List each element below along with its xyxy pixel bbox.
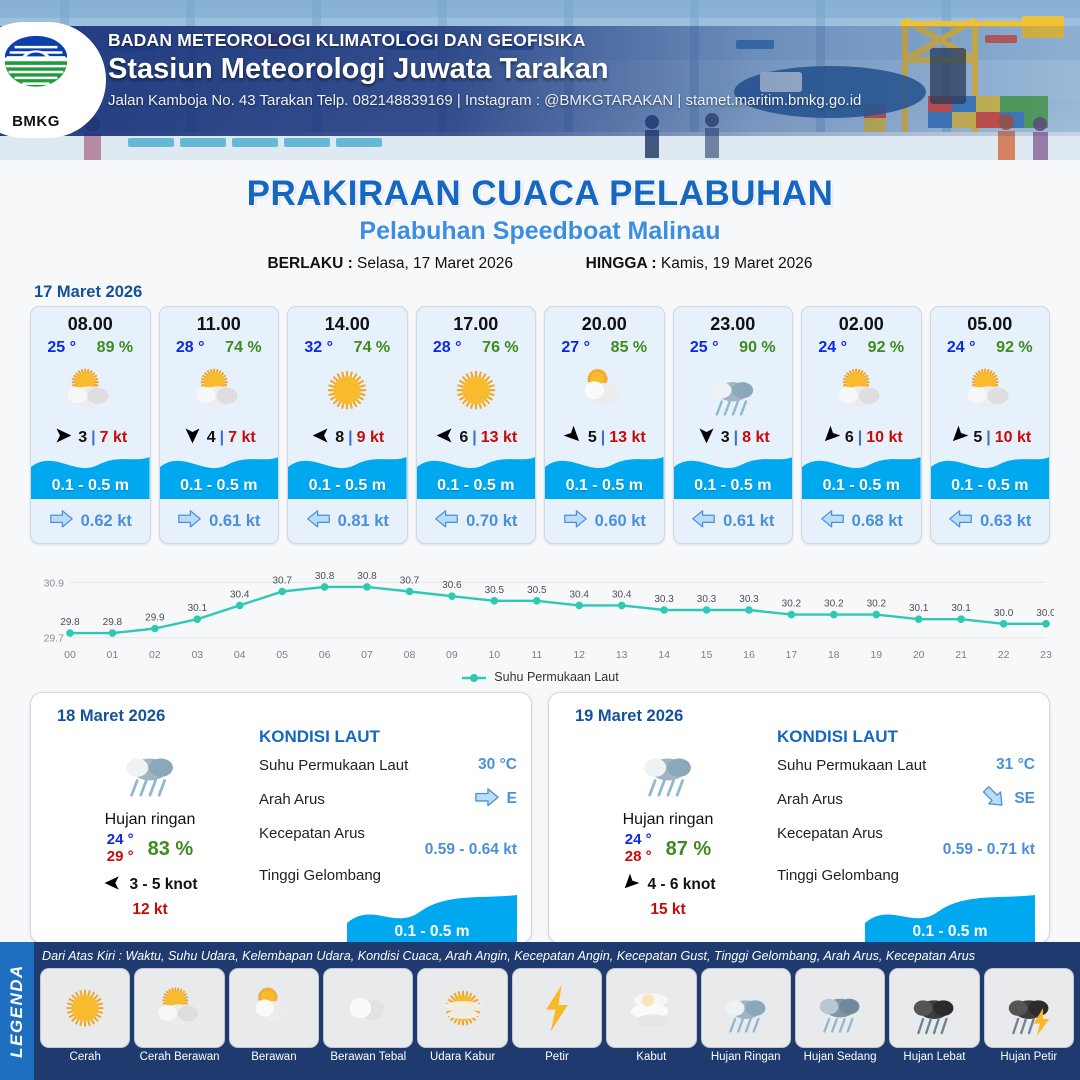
svg-text:15: 15 (701, 649, 713, 661)
card-wave-height: 0.1 - 0.5 m (160, 477, 279, 495)
forecast-card: 08.0025 °89 %3|7 kt0.1 - 0.5 m0.62 kt (30, 306, 151, 544)
card-wind-speed: 6 (459, 429, 468, 447)
legend-icon-hujan-ringan (701, 968, 791, 1048)
svg-text:01: 01 (107, 649, 119, 661)
wind-direction-arrow-icon (620, 873, 640, 898)
svg-text:30.5: 30.5 (527, 585, 547, 596)
daily-temp-max: 29 ° (107, 849, 134, 866)
card-time: 14.00 (288, 314, 407, 335)
weather-cerah-berawan-icon (160, 359, 279, 421)
card-time: 05.00 (931, 314, 1050, 335)
legend-item-label: Hujan Sedang (795, 1051, 885, 1063)
current-speed-label: Kecepatan Arus (777, 825, 883, 842)
svg-text:30.7: 30.7 (272, 576, 292, 587)
card-wind-speed: 4 (207, 429, 216, 447)
svg-text:09: 09 (446, 649, 458, 661)
legend-item-label: Udara Kabur (417, 1051, 507, 1063)
forecast-card: 11.0028 °74 %4|7 kt0.1 - 0.5 m0.61 kt (159, 306, 280, 544)
legend-item: Hujan Lebat (889, 968, 979, 1063)
sst-chart-svg: 29.730.929.80029.80129.90230.10330.40430… (26, 554, 1054, 666)
weather-hujan-ringan-icon (45, 731, 255, 809)
svg-text:30.2: 30.2 (782, 599, 802, 610)
weather-cerah-icon (417, 359, 536, 421)
card-wind-speed: 5 (588, 429, 597, 447)
svg-text:30.8: 30.8 (315, 571, 335, 582)
chart-legend-marker (461, 672, 487, 682)
forecast-card: 14.0032 °74 %8|9 kt0.1 - 0.5 m0.81 kt (287, 306, 408, 544)
svg-text:30.0: 30.0 (994, 608, 1014, 619)
svg-text:30.8: 30.8 (357, 571, 377, 582)
daily-date: 18 Maret 2026 (57, 707, 165, 726)
card-time: 02.00 (802, 314, 921, 335)
svg-text:30.2: 30.2 (824, 599, 844, 610)
svg-text:11: 11 (531, 649, 542, 661)
bmkg-logo-mark (0, 32, 75, 112)
legend-icon-berawan (229, 968, 319, 1048)
card-wind-speed: 3 (78, 429, 87, 447)
card-wind-speed: 5 (973, 429, 982, 447)
current-dir-label: Arah Arus (777, 791, 843, 808)
weather-cerah-berawan-icon (931, 359, 1050, 421)
daily-forecast-row: 18 Maret 2026Hujan ringan24 °29 °83 %3 -… (0, 684, 1080, 944)
legend-icon-berawan-tebal (323, 968, 413, 1048)
legend-note: Dari Atas Kiri : Waktu, Suhu Udara, Kele… (42, 949, 1074, 963)
card-current: 0.63 kt (931, 509, 1050, 534)
daily-temp-max: 28 ° (625, 849, 652, 866)
svg-text:30.4: 30.4 (230, 589, 250, 600)
card-current-speed: 0.70 kt (466, 512, 517, 531)
card-temperature: 25 ° (690, 339, 719, 357)
legend-icon-cerah (40, 968, 130, 1048)
legend-item-label: Cerah Berawan (134, 1051, 224, 1063)
weather-hujan-ringan-icon (674, 359, 793, 421)
agency-name: BADAN METEOROLOGI KLIMATOLOGI DAN GEOFIS… (108, 30, 861, 51)
svg-text:10: 10 (488, 649, 500, 661)
valid-from-label: BERLAKU : (267, 255, 352, 272)
card-time: 23.00 (674, 314, 793, 335)
daily-wind-range: 4 - 6 knot (647, 876, 715, 894)
svg-text:30.4: 30.4 (569, 589, 589, 600)
card-temperature: 27 ° (561, 339, 590, 357)
legend-item: Kabut (606, 968, 696, 1063)
current-direction-arrow-icon (474, 787, 500, 811)
daily-temp-min: 24 ° (625, 832, 652, 849)
svg-text:30.4: 30.4 (612, 589, 632, 600)
legend-item-label: Berawan (229, 1051, 319, 1063)
wave-height-label: Tinggi Gelombang (777, 867, 899, 884)
legend-item: Udara Kabur (417, 968, 507, 1063)
svg-text:16: 16 (743, 649, 755, 661)
card-gust: 13 kt (609, 429, 645, 447)
station-name: Stasiun Meteorologi Juwata Tarakan (108, 53, 861, 86)
svg-text:05: 05 (276, 649, 288, 661)
card-current-speed: 0.62 kt (81, 512, 132, 531)
legend-item-label: Berawan Tebal (323, 1051, 413, 1063)
daily-forecast-card: 18 Maret 2026Hujan ringan24 °29 °83 %3 -… (30, 692, 532, 944)
current-speed-value: 0.59 - 0.71 kt (777, 841, 1035, 859)
card-time: 17.00 (417, 314, 536, 335)
card-current: 0.68 kt (802, 509, 921, 534)
page-subtitle: Pelabuhan Speedboat Malinau (0, 217, 1080, 246)
current-speed-value: 0.59 - 0.64 kt (259, 841, 517, 859)
separator: | (858, 429, 862, 447)
svg-text:18: 18 (828, 649, 840, 661)
card-wave-height: 0.1 - 0.5 m (545, 477, 664, 495)
card-time: 11.00 (160, 314, 279, 335)
daily-wind: 3 - 5 knot (45, 873, 255, 898)
current-direction-arrow-icon (49, 509, 74, 534)
svg-text:02: 02 (149, 649, 161, 661)
daily-wind: 4 - 6 knot (563, 873, 773, 898)
svg-text:30.2: 30.2 (867, 599, 887, 610)
daily-gust: 15 kt (563, 901, 773, 919)
card-current-speed: 0.81 kt (338, 512, 389, 531)
weather-berawan-icon (545, 359, 664, 421)
card-wave-height: 0.1 - 0.5 m (802, 477, 921, 495)
legend-icon-hujan-lebat (889, 968, 979, 1048)
svg-text:13: 13 (616, 649, 628, 661)
svg-text:00: 00 (64, 649, 76, 661)
daily-condition: Hujan ringan (563, 811, 773, 829)
legend-section: LEGENDA Dari Atas Kiri : Waktu, Suhu Uda… (0, 942, 1080, 1080)
daily-humidity: 87 % (666, 838, 712, 861)
svg-text:14: 14 (658, 649, 670, 661)
legend-item-label: Cerah (40, 1051, 130, 1063)
current-dir-value: E (507, 790, 517, 808)
card-current: 0.62 kt (31, 509, 150, 534)
current-dir-value: SE (1014, 790, 1035, 808)
legend-item-label: Kabut (606, 1051, 696, 1063)
card-humidity: 89 % (97, 339, 133, 357)
card-wave-height: 0.1 - 0.5 m (417, 477, 536, 495)
separator: | (601, 429, 605, 447)
daily-temp-min: 24 ° (107, 832, 134, 849)
separator: | (472, 429, 476, 447)
current-direction-arrow-icon (306, 509, 331, 534)
current-speed-label: Kecepatan Arus (259, 825, 365, 842)
svg-text:30.0: 30.0 (1036, 608, 1054, 619)
weather-hujan-ringan-icon (563, 731, 773, 809)
svg-text:04: 04 (234, 649, 246, 661)
legend-item: Cerah Berawan (134, 968, 224, 1063)
legend-icon-petir (512, 968, 602, 1048)
legend-item: Hujan Ringan (701, 968, 791, 1063)
svg-text:30.9: 30.9 (44, 577, 65, 589)
daily-humidity: 83 % (148, 838, 194, 861)
legend-item: Berawan (229, 968, 319, 1063)
current-direction-arrow-icon (820, 509, 845, 534)
card-wind-speed: 3 (721, 429, 730, 447)
legend-icon-kabut (606, 968, 696, 1048)
card-current: 0.81 kt (288, 509, 407, 534)
svg-text:06: 06 (319, 649, 331, 661)
daily-wave-height: 0.1 - 0.5 m (865, 923, 1035, 941)
page-title: PRAKIRAAN CUACA PELABUHAN (0, 174, 1080, 214)
current-direction-arrow-icon (948, 509, 973, 534)
current-dir-label: Arah Arus (259, 791, 325, 808)
wind-direction-arrow-icon (102, 873, 122, 898)
daily-forecast-card: 19 Maret 2026Hujan ringan24 °28 °87 %4 -… (548, 692, 1050, 944)
svg-text:30.1: 30.1 (951, 603, 971, 614)
separator: | (348, 429, 352, 447)
daily-wave-height: 0.1 - 0.5 m (347, 923, 517, 941)
card-humidity: 74 % (225, 339, 261, 357)
legend-item-label: Petir (512, 1051, 602, 1063)
card-humidity: 92 % (868, 339, 904, 357)
card-temperature: 24 ° (947, 339, 976, 357)
daily-wind-range: 3 - 5 knot (129, 876, 197, 894)
legend-icon-cerah-berawan (134, 968, 224, 1048)
weather-cerah-berawan-icon (802, 359, 921, 421)
card-temperature: 32 ° (304, 339, 333, 357)
weather-cerah-icon (288, 359, 407, 421)
forecast-card: 23.0025 °90 %3|8 kt0.1 - 0.5 m0.61 kt (673, 306, 794, 544)
sst-value: 30 °C (478, 756, 517, 774)
sst-chart: 29.730.929.80029.80129.90230.10330.40430… (26, 554, 1054, 674)
card-gust: 7 kt (100, 429, 128, 447)
current-direction-arrow-icon (434, 509, 459, 534)
separator: | (734, 429, 738, 447)
card-current: 0.70 kt (417, 509, 536, 534)
card-temperature: 28 ° (433, 339, 462, 357)
card-time: 08.00 (31, 314, 150, 335)
svg-text:19: 19 (870, 649, 882, 661)
legend-item: Hujan Petir (984, 968, 1074, 1063)
card-humidity: 90 % (739, 339, 775, 357)
current-direction-arrow-icon (981, 787, 1007, 811)
legend-item-list: CerahCerah BerawanBerawanBerawan TebalUd… (40, 968, 1074, 1063)
svg-text:30.1: 30.1 (909, 603, 929, 614)
card-gust: 8 kt (742, 429, 770, 447)
svg-text:29.7: 29.7 (44, 633, 65, 645)
svg-text:30.5: 30.5 (485, 585, 505, 596)
current-direction-arrow-icon (563, 509, 588, 534)
separator: | (220, 429, 224, 447)
card-humidity: 76 % (482, 339, 518, 357)
card-wave-height: 0.1 - 0.5 m (288, 477, 407, 495)
card-temperature: 25 ° (47, 339, 76, 357)
current-direction-arrow-icon (177, 509, 202, 534)
svg-text:23: 23 (1040, 649, 1052, 661)
sea-condition-title: KONDISI LAUT (259, 727, 517, 747)
hourly-forecast-row: 08.0025 °89 %3|7 kt0.1 - 0.5 m0.62 kt11.… (0, 306, 1080, 544)
svg-text:03: 03 (191, 649, 203, 661)
card-gust: 10 kt (995, 429, 1031, 447)
weather-cerah-berawan-icon (31, 359, 150, 421)
card-current-speed: 0.60 kt (595, 512, 646, 531)
title-block: PRAKIRAAN CUACA PELABUHAN Pelabuhan Spee… (0, 160, 1080, 273)
card-temperature: 28 ° (176, 339, 205, 357)
legend-icon-hujan-sedang (795, 968, 885, 1048)
card-gust: 10 kt (866, 429, 902, 447)
card-gust: 13 kt (481, 429, 517, 447)
contact-info: Jalan Kamboja No. 43 Tarakan Telp. 08214… (108, 92, 861, 109)
card-current: 0.61 kt (674, 509, 793, 534)
current-direction-arrow-icon (691, 509, 716, 534)
svg-text:30.3: 30.3 (654, 594, 674, 605)
svg-text:30.1: 30.1 (188, 603, 208, 614)
card-wind-speed: 6 (845, 429, 854, 447)
daily-gust: 12 kt (45, 901, 255, 919)
legend-side-bar: LEGENDA (0, 942, 34, 1080)
valid-until-value: Kamis, 19 Maret 2026 (661, 255, 813, 272)
bmkg-logo-text: BMKG (0, 113, 75, 130)
card-wind-speed: 8 (335, 429, 344, 447)
separator: | (91, 429, 95, 447)
card-temperature: 24 ° (818, 339, 847, 357)
wave-height-label: Tinggi Gelombang (259, 867, 381, 884)
svg-text:29.8: 29.8 (60, 617, 80, 628)
card-gust: 9 kt (357, 429, 385, 447)
card-current: 0.60 kt (545, 509, 664, 534)
separator: | (986, 429, 990, 447)
card-current: 0.61 kt (160, 509, 279, 534)
forecast-card: 02.0024 °92 %6|10 kt0.1 - 0.5 m0.68 kt (801, 306, 922, 544)
svg-text:30.7: 30.7 (400, 576, 420, 587)
card-current-speed: 0.61 kt (209, 512, 260, 531)
page-header: BMKG BADAN METEOROLOGI KLIMATOLOGI DAN G… (0, 0, 1080, 160)
legend-item-label: Hujan Petir (984, 1051, 1074, 1063)
valid-until-label: HINGGA : (586, 255, 657, 272)
legend-side-title: LEGENDA (7, 964, 27, 1058)
card-humidity: 92 % (996, 339, 1032, 357)
sst-value: 31 °C (996, 756, 1035, 774)
legend-icon-udara-kabur (417, 968, 507, 1048)
card-current-speed: 0.68 kt (852, 512, 903, 531)
legend-item: Petir (512, 968, 602, 1063)
legend-item: Hujan Sedang (795, 968, 885, 1063)
daily-condition: Hujan ringan (45, 811, 255, 829)
forecast-date-label: 17 Maret 2026 (34, 283, 1080, 302)
svg-text:12: 12 (573, 649, 585, 661)
legend-item: Cerah (40, 968, 130, 1063)
svg-text:07: 07 (361, 649, 373, 661)
svg-text:17: 17 (786, 649, 798, 661)
forecast-card: 20.0027 °85 %5|13 kt0.1 - 0.5 m0.60 kt (544, 306, 665, 544)
forecast-card: 17.0028 °76 %6|13 kt0.1 - 0.5 m0.70 kt (416, 306, 537, 544)
card-time: 20.00 (545, 314, 664, 335)
svg-text:30.6: 30.6 (442, 580, 462, 591)
legend-item-label: Hujan Lebat (889, 1051, 979, 1063)
svg-text:29.8: 29.8 (103, 617, 123, 628)
sst-label: Suhu Permukaan Laut (259, 757, 408, 774)
sea-condition-title: KONDISI LAUT (777, 727, 1035, 747)
validity-line: BERLAKU : Selasa, 17 Maret 2026 HINGGA :… (0, 255, 1080, 273)
daily-date: 19 Maret 2026 (575, 707, 683, 726)
valid-from-value: Selasa, 17 Maret 2026 (357, 255, 513, 272)
card-humidity: 74 % (354, 339, 390, 357)
card-current-speed: 0.61 kt (723, 512, 774, 531)
card-current-speed: 0.63 kt (980, 512, 1031, 531)
svg-text:29.9: 29.9 (145, 613, 165, 624)
svg-text:20: 20 (913, 649, 925, 661)
svg-text:30.3: 30.3 (697, 594, 717, 605)
card-wave-height: 0.1 - 0.5 m (674, 477, 793, 495)
card-wave-height: 0.1 - 0.5 m (31, 477, 150, 495)
card-wave-height: 0.1 - 0.5 m (931, 477, 1050, 495)
svg-text:30.3: 30.3 (739, 594, 759, 605)
svg-text:08: 08 (404, 649, 416, 661)
card-gust: 7 kt (228, 429, 256, 447)
card-humidity: 85 % (611, 339, 647, 357)
legend-icon-hujan-petir (984, 968, 1074, 1048)
forecast-card: 05.0024 °92 %5|10 kt0.1 - 0.5 m0.63 kt (930, 306, 1051, 544)
svg-text:21: 21 (955, 649, 967, 661)
svg-text:22: 22 (998, 649, 1010, 661)
legend-item: Berawan Tebal (323, 968, 413, 1063)
legend-item-label: Hujan Ringan (701, 1051, 791, 1063)
sst-label: Suhu Permukaan Laut (777, 757, 926, 774)
